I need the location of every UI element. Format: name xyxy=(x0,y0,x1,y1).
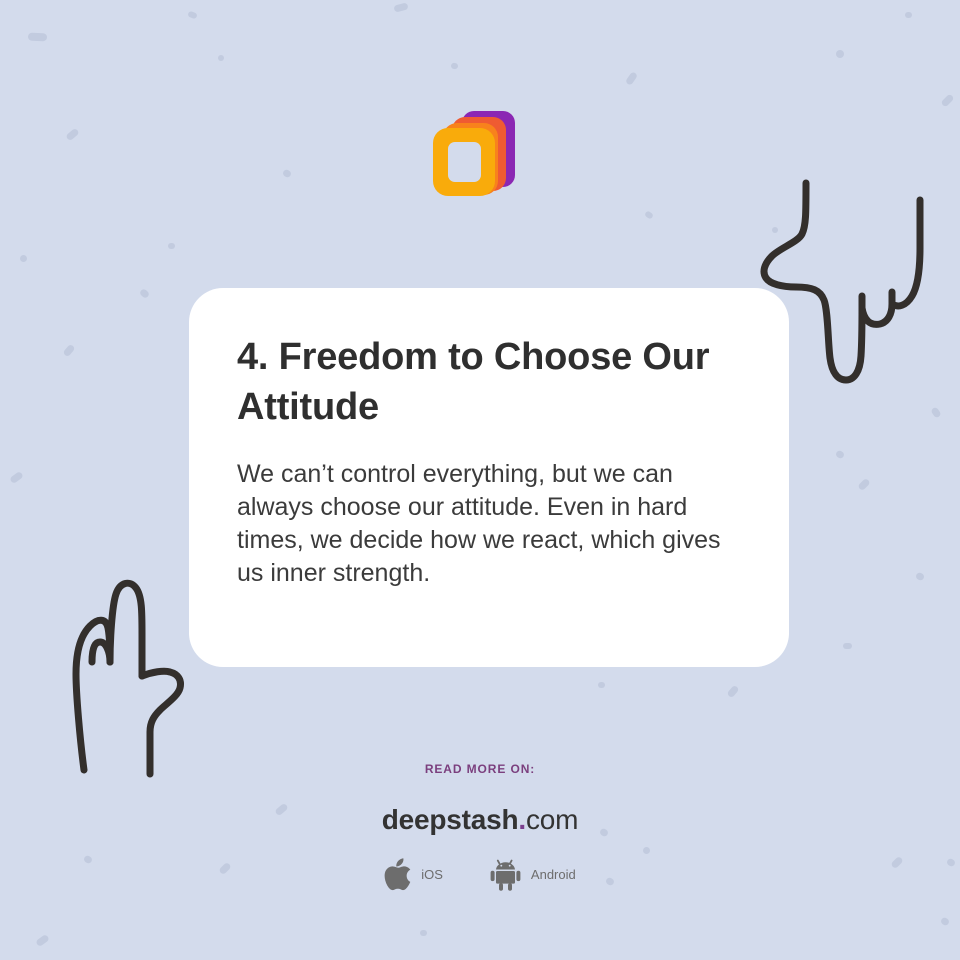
deepstash-logo-mark xyxy=(432,103,528,199)
speckle xyxy=(35,934,50,947)
speckle xyxy=(218,55,224,61)
speckle xyxy=(905,12,912,18)
pointing-hand-up-icon xyxy=(18,558,218,788)
speckle xyxy=(625,71,638,86)
card-body-text: We can’t control everything, but we can … xyxy=(237,458,741,590)
brand-url[interactable]: deepstash.com xyxy=(0,804,960,836)
speckle xyxy=(28,33,47,42)
speckle xyxy=(915,572,925,582)
speckle xyxy=(857,478,870,491)
android-icon xyxy=(489,858,522,891)
speckle xyxy=(20,255,27,262)
ios-label: iOS xyxy=(421,867,443,882)
app-store-badges: iOS Android xyxy=(0,858,960,891)
speckle xyxy=(644,210,654,220)
brand-name: deepstash xyxy=(382,804,519,835)
apple-icon xyxy=(384,858,412,891)
speckle xyxy=(598,682,605,688)
speckle xyxy=(726,685,739,699)
brand-tld: com xyxy=(526,804,578,835)
card-title: 4. Freedom to Choose Our Attitude xyxy=(237,332,741,432)
idea-card: 4. Freedom to Choose Our Attitude We can… xyxy=(189,288,789,667)
poster-canvas: 4. Freedom to Choose Our Attitude We can… xyxy=(0,0,960,960)
speckle xyxy=(835,449,845,459)
speckle xyxy=(451,62,459,69)
speckle xyxy=(9,471,24,484)
speckle xyxy=(393,2,408,12)
footer: READ MORE ON: deepstash.com iOS xyxy=(0,762,960,891)
speckle xyxy=(420,930,427,936)
speckle xyxy=(62,344,75,358)
speckle xyxy=(139,288,150,299)
speckle xyxy=(930,406,941,418)
speckle xyxy=(940,916,951,926)
speckle xyxy=(168,243,175,249)
android-label: Android xyxy=(531,867,576,882)
android-badge[interactable]: Android xyxy=(489,858,576,891)
speckle xyxy=(772,227,778,233)
ios-badge[interactable]: iOS xyxy=(384,858,443,891)
brand-logo xyxy=(0,96,960,206)
speckle xyxy=(836,50,844,58)
speckle xyxy=(187,11,198,20)
brand-dot: . xyxy=(518,804,526,835)
logo-layer-cutout xyxy=(448,142,481,182)
speckle xyxy=(843,643,852,649)
read-more-label: READ MORE ON: xyxy=(0,762,960,776)
